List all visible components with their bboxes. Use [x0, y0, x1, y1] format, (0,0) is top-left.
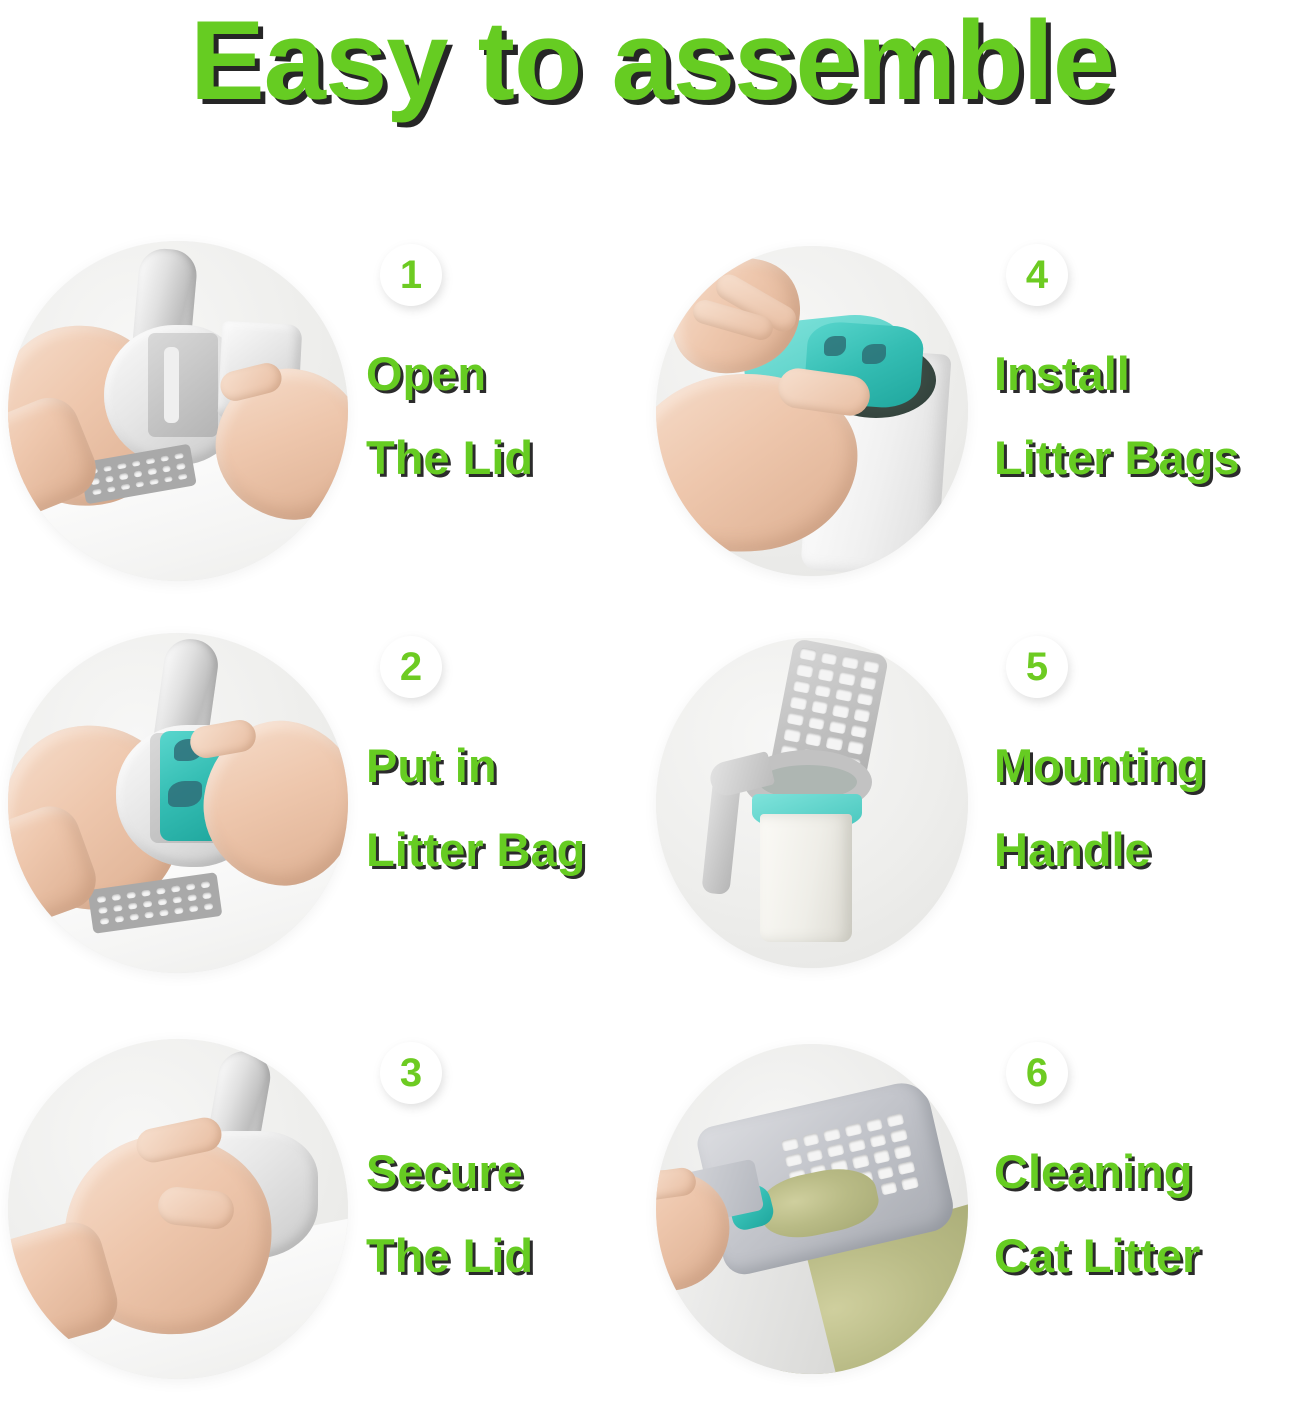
step-label-line2: The Lid: [366, 1214, 666, 1298]
scoop-cavity-slot: [164, 347, 179, 423]
step-label-6: Cleaning Cat Litter: [994, 1130, 1304, 1297]
step-label-2: Put in Litter Bag: [366, 724, 666, 891]
step-caption-5: 5 Mounting Handle: [968, 628, 1304, 978]
step-photo-4: [656, 246, 968, 576]
step-label-line1: Open: [366, 332, 666, 416]
bag-roll-print-2: [168, 781, 202, 807]
step-label-line1: Install: [994, 332, 1304, 416]
step-photo-6: [656, 1044, 968, 1374]
step-photo-1: [8, 241, 348, 581]
step-label-line1: Cleaning: [994, 1130, 1304, 1214]
step-label-5: Mounting Handle: [994, 724, 1304, 891]
step-caption-3: 3 Secure The Lid: [348, 1034, 648, 1384]
step-number-badge-5: 5: [1006, 636, 1068, 698]
step-card-4: 4 Install Litter Bags: [652, 236, 1304, 586]
page-title: Easy to assemble: [0, 2, 1304, 120]
step-number-badge-6: 6: [1006, 1042, 1068, 1104]
step-label-line2: Handle: [994, 808, 1304, 892]
step-label-line1: Mounting: [994, 724, 1304, 808]
step-caption-2: 2 Put in Litter Bag: [348, 628, 648, 978]
step-card-1: 1 Open The Lid: [8, 236, 648, 586]
step-label-line2: The Lid: [366, 416, 666, 500]
step-label-line1: Put in: [366, 724, 666, 808]
step-photo-5: [656, 638, 968, 968]
bag-print-mark-2: [862, 344, 886, 364]
step-label-line1: Secure: [366, 1130, 666, 1214]
steps-grid: 1 Open The Lid: [0, 236, 1304, 1396]
step-card-6: 6 Cleaning Cat Litter: [652, 1034, 1304, 1384]
step-caption-4: 4 Install Litter Bags: [968, 236, 1304, 586]
step-label-1: Open The Lid: [366, 332, 666, 499]
step-photo-2: [8, 633, 348, 973]
step-card-5: 5 Mounting Handle: [652, 628, 1304, 978]
step-card-2: 2 Put in Litter Bag: [8, 628, 648, 978]
step-number-badge-4: 4: [1006, 244, 1068, 306]
step-number-badge-1: 1: [380, 244, 442, 306]
white-container-shape: [760, 814, 852, 942]
step-label-line2: Litter Bags: [994, 416, 1304, 500]
step-caption-1: 1 Open The Lid: [348, 236, 648, 586]
step-photo-3: [8, 1039, 348, 1379]
step-label-line2: Litter Bag: [366, 808, 666, 892]
step-label-line2: Cat Litter: [994, 1214, 1304, 1298]
step-label-4: Install Litter Bags: [994, 332, 1304, 499]
bag-print-mark-1: [824, 336, 846, 356]
step-caption-6: 6 Cleaning Cat Litter: [968, 1034, 1304, 1384]
step-card-3: 3 Secure The Lid: [8, 1034, 648, 1384]
step-number-badge-2: 2: [380, 636, 442, 698]
step-number-badge-3: 3: [380, 1042, 442, 1104]
step-label-3: Secure The Lid: [366, 1130, 666, 1297]
scoop-cavity-shape: [148, 333, 218, 437]
